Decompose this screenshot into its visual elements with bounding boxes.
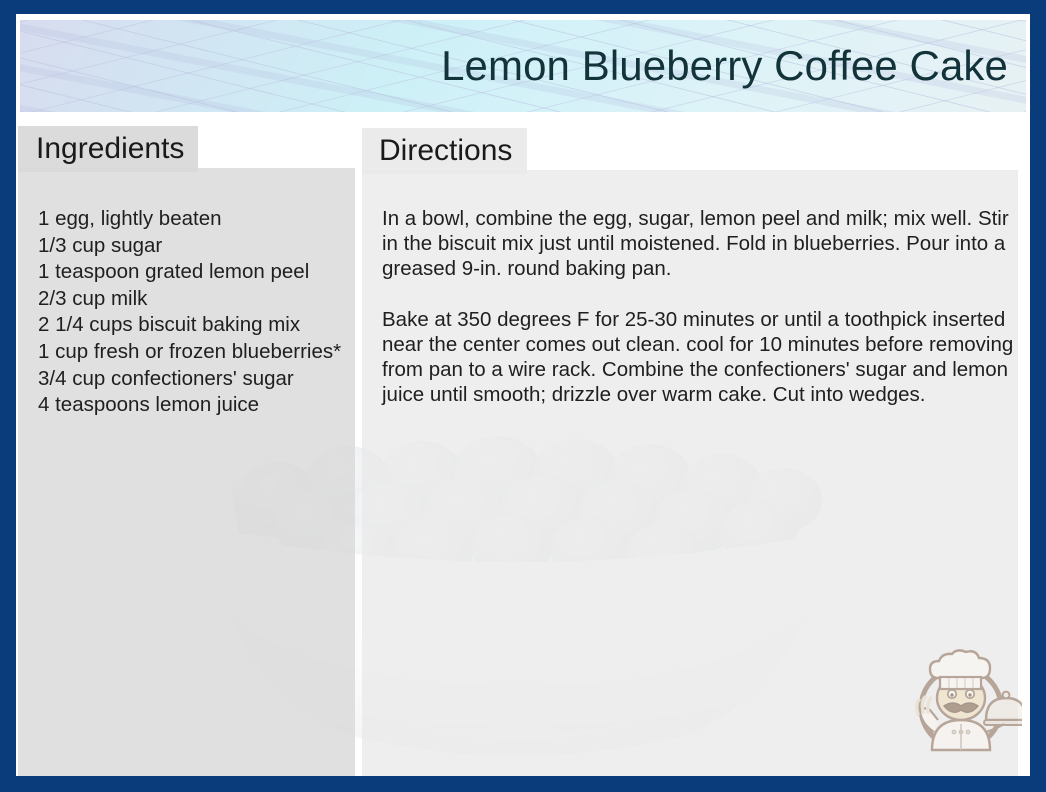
title-banner: Lemon Blueberry Coffee Cake	[20, 20, 1026, 112]
list-item: 1 egg, lightly beaten	[38, 206, 358, 233]
list-item: 4 teaspoons lemon juice	[38, 392, 358, 419]
ingredients-list: 1 egg, lightly beaten 1/3 cup sugar 1 te…	[38, 206, 358, 419]
list-item: 2 1/4 cups biscuit baking mix	[38, 312, 358, 339]
directions-paragraph: Bake at 350 degrees F for 25-30 minutes …	[382, 307, 1022, 408]
page-title: Lemon Blueberry Coffee Cake	[441, 44, 1008, 88]
list-item: 1 cup fresh or frozen blueberries*	[38, 339, 358, 366]
list-item: 2/3 cup milk	[38, 286, 358, 313]
directions-heading: Directions	[379, 136, 512, 166]
directions-section-tab: Directions	[362, 128, 527, 174]
chef-with-serving-dome-logo	[900, 640, 1022, 762]
ingredients-section-tab: Ingredients	[18, 126, 198, 172]
list-item: 3/4 cup confectioners' sugar	[38, 366, 358, 393]
ingredients-heading: Ingredients	[36, 134, 184, 164]
slide-content-area: Lemon Blueberry Coffee Cake	[16, 14, 1030, 776]
recipe-slide: Lemon Blueberry Coffee Cake	[0, 0, 1046, 792]
list-item: 1/3 cup sugar	[38, 233, 358, 260]
list-item: 1 teaspoon grated lemon peel	[38, 259, 358, 286]
directions-text: In a bowl, combine the egg, sugar, lemon…	[382, 206, 1022, 407]
directions-paragraph: In a bowl, combine the egg, sugar, lemon…	[382, 206, 1022, 282]
